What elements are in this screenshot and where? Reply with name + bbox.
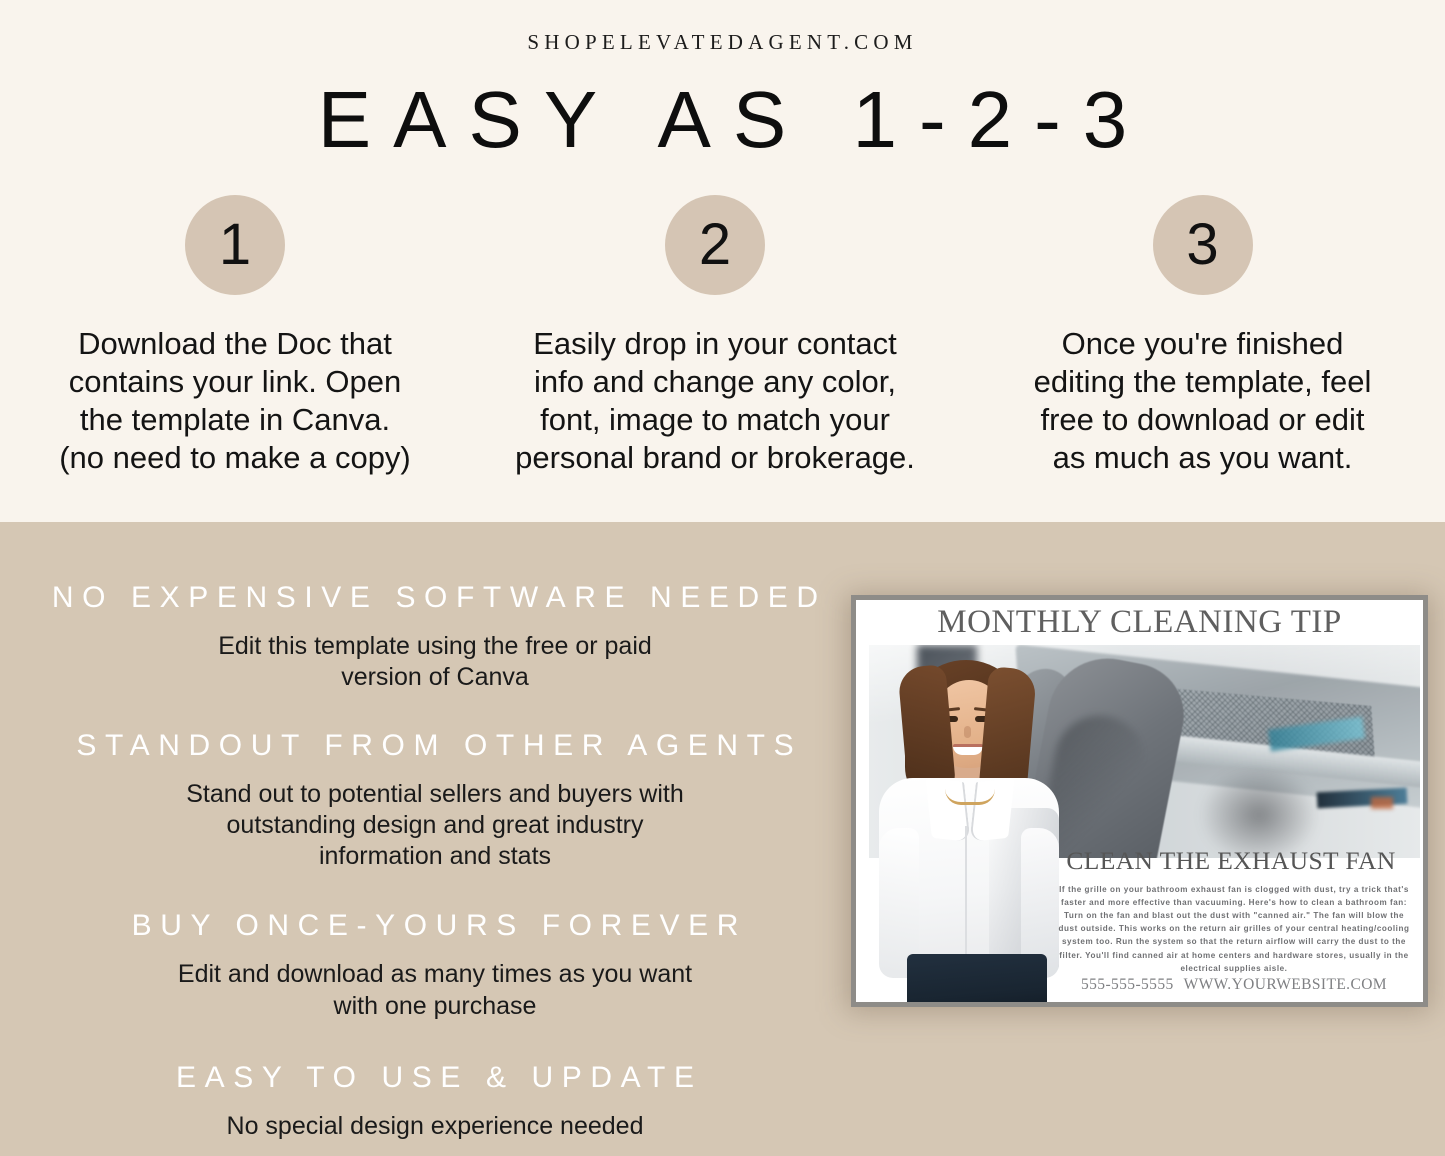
step-2: 2 Easily drop in your contact info and c… (470, 195, 960, 478)
postcard-website: WWW.YOURWEBSITE.COM (1184, 976, 1387, 993)
feature-item: STANDOUT FROM OTHER AGENTS Stand out to … (0, 728, 870, 873)
feature-body: Edit and download as many times as you w… (0, 959, 870, 1022)
feature-title: STANDOUT FROM OTHER AGENTS (0, 728, 870, 764)
step-number-badge-1: 1 (185, 195, 285, 295)
postcard-tip-title: CLEAN THE EXHAUST FAN (1042, 846, 1420, 876)
agent-portrait (879, 658, 1059, 1002)
step-1: 1 Download the Doc that contains your li… (0, 195, 470, 478)
step-description-2: Easily drop in your contact info and cha… (480, 325, 950, 478)
postcard-tip-paragraph: If the grille on your bathroom exhaust f… (1048, 883, 1420, 975)
feature-item: BUY ONCE-YOURS FOREVER Edit and download… (0, 908, 870, 1022)
postcard-body: CLEAN THE EXHAUST FAN If the grille on y… (1048, 846, 1420, 996)
agent-smile (953, 744, 983, 755)
agent-collar-right (969, 778, 1014, 842)
agent-nose (964, 726, 971, 738)
step-3: 3 Once you're finished editing the templ… (960, 195, 1445, 478)
postcard-header-title: MONTHLY CLEANING TIP (937, 604, 1342, 641)
page-title: EASY AS 1-2-3 (0, 74, 1445, 166)
feature-body: Stand out to potential sellers and buyer… (0, 779, 870, 873)
step-description-3: Once you're finished editing the templat… (983, 325, 1423, 478)
step-number-badge-3: 3 (1153, 195, 1253, 295)
agent-navy-skirt (907, 954, 1047, 1002)
feature-item: NO EXPENSIVE SOFTWARE NEEDED Edit this t… (0, 580, 870, 694)
feature-body: Edit this template using the free or pai… (0, 631, 870, 694)
postcard-preview: MONTHLY CLEANING TIP (851, 595, 1428, 1007)
feature-item: EASY TO USE & UPDATE No special design e… (0, 1060, 870, 1142)
step-number-badge-2: 2 (665, 195, 765, 295)
top-section: SHOPELEVATEDAGENT.COM EASY AS 1-2-3 1 Do… (0, 0, 1445, 522)
postcard-phone: 555-555-5555 (1081, 976, 1174, 993)
feature-body: No special design experience needed (0, 1111, 870, 1142)
feature-title: NO EXPENSIVE SOFTWARE NEEDED (0, 580, 870, 616)
feature-title: EASY TO USE & UPDATE (0, 1060, 870, 1096)
photo-orange-accent (1371, 797, 1393, 809)
feature-title: BUY ONCE-YOURS FOREVER (0, 908, 870, 944)
agent-collar-left (925, 778, 970, 842)
site-url: SHOPELEVATEDAGENT.COM (0, 30, 1445, 55)
postcard-inner: MONTHLY CLEANING TIP (856, 600, 1423, 1002)
bottom-section: NO EXPENSIVE SOFTWARE NEEDED Edit this t… (0, 522, 1445, 1156)
feature-list: NO EXPENSIVE SOFTWARE NEEDED Edit this t… (0, 580, 870, 1142)
agent-shirt-placket (965, 826, 967, 966)
step-description-1: Download the Doc that contains your link… (20, 325, 450, 478)
promo-graphic: SHOPELEVATEDAGENT.COM EASY AS 1-2-3 1 Do… (0, 0, 1445, 1156)
postcard-footer: 555-555-5555WWW.YOURWEBSITE.COM (1048, 976, 1420, 994)
postcard-header: MONTHLY CLEANING TIP (856, 600, 1423, 645)
steps-row: 1 Download the Doc that contains your li… (0, 195, 1445, 478)
